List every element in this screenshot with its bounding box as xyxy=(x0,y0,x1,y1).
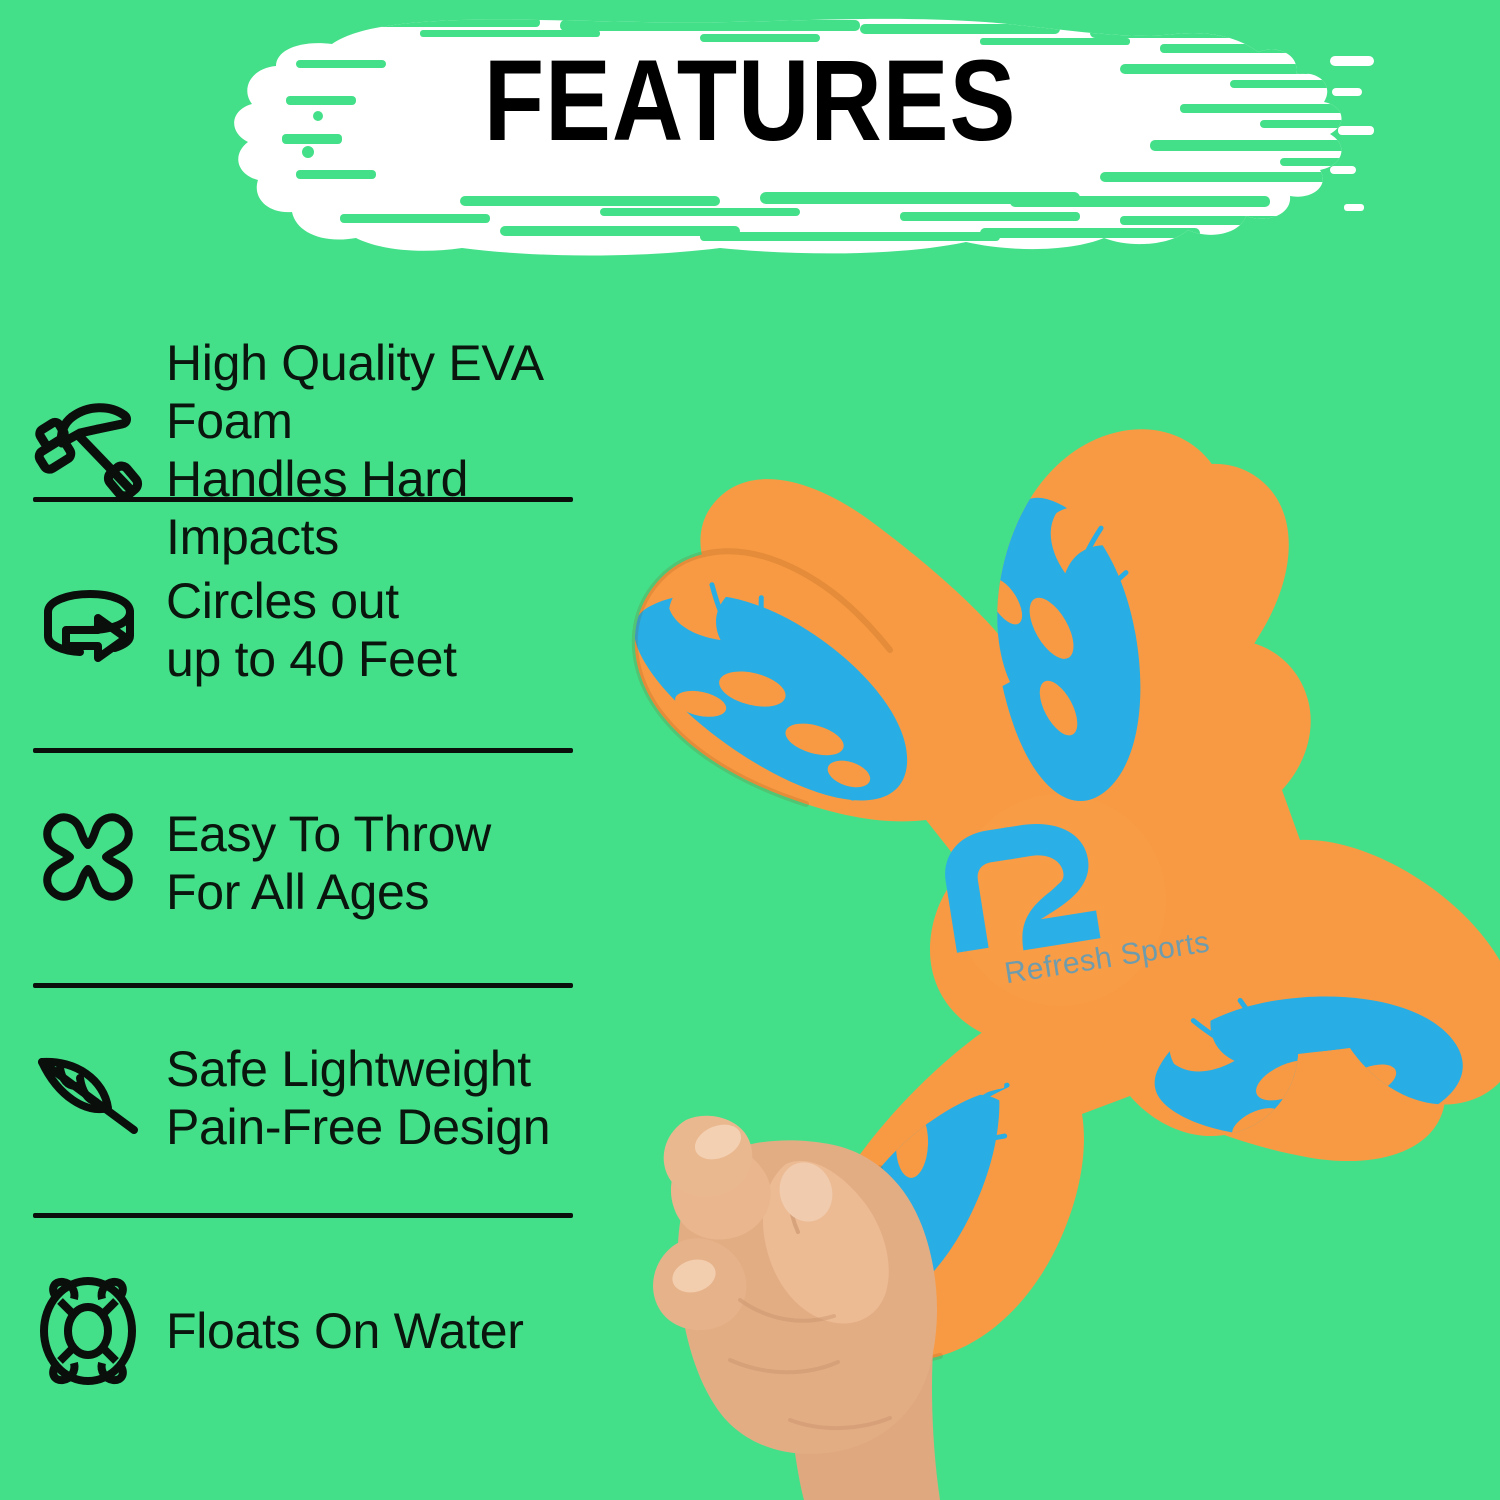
circular-orbit-arrow-icon xyxy=(28,574,148,686)
product-photo-boomerang: Refresh Sports xyxy=(590,420,1500,1500)
feature-divider-1 xyxy=(33,497,573,502)
feature-divider-2 xyxy=(33,748,573,753)
feature-label-1: High Quality EVA Foam Handles Hard Impac… xyxy=(166,334,640,566)
feather-icon xyxy=(28,1042,148,1154)
hammer-icon xyxy=(28,394,148,506)
feature-divider-4 xyxy=(33,1213,573,1218)
life-ring-icon xyxy=(28,1275,148,1387)
header-brush-banner: FEATURES xyxy=(0,0,1500,280)
feature-item-2: Circles out up to 40 Feet xyxy=(0,572,640,688)
feature-item-3: Easy To Throw For All Ages xyxy=(0,805,640,921)
feature-item-4: Safe Lightweight Pain-Free Design xyxy=(0,1040,640,1156)
feature-label-5: Floats On Water xyxy=(166,1302,524,1360)
feature-label-4: Safe Lightweight Pain-Free Design xyxy=(166,1040,550,1156)
page-title: FEATURES xyxy=(105,44,1395,159)
boomerang-x-icon xyxy=(28,807,148,919)
feature-divider-3 xyxy=(33,983,573,988)
feature-label-2: Circles out up to 40 Feet xyxy=(166,572,457,688)
feature-label-3: Easy To Throw For All Ages xyxy=(166,805,491,921)
product-feature-graphic: FEATURES xyxy=(0,0,1500,1500)
feature-item-5: Floats On Water xyxy=(0,1275,640,1387)
feature-item-1: High Quality EVA Foam Handles Hard Impac… xyxy=(0,334,640,566)
